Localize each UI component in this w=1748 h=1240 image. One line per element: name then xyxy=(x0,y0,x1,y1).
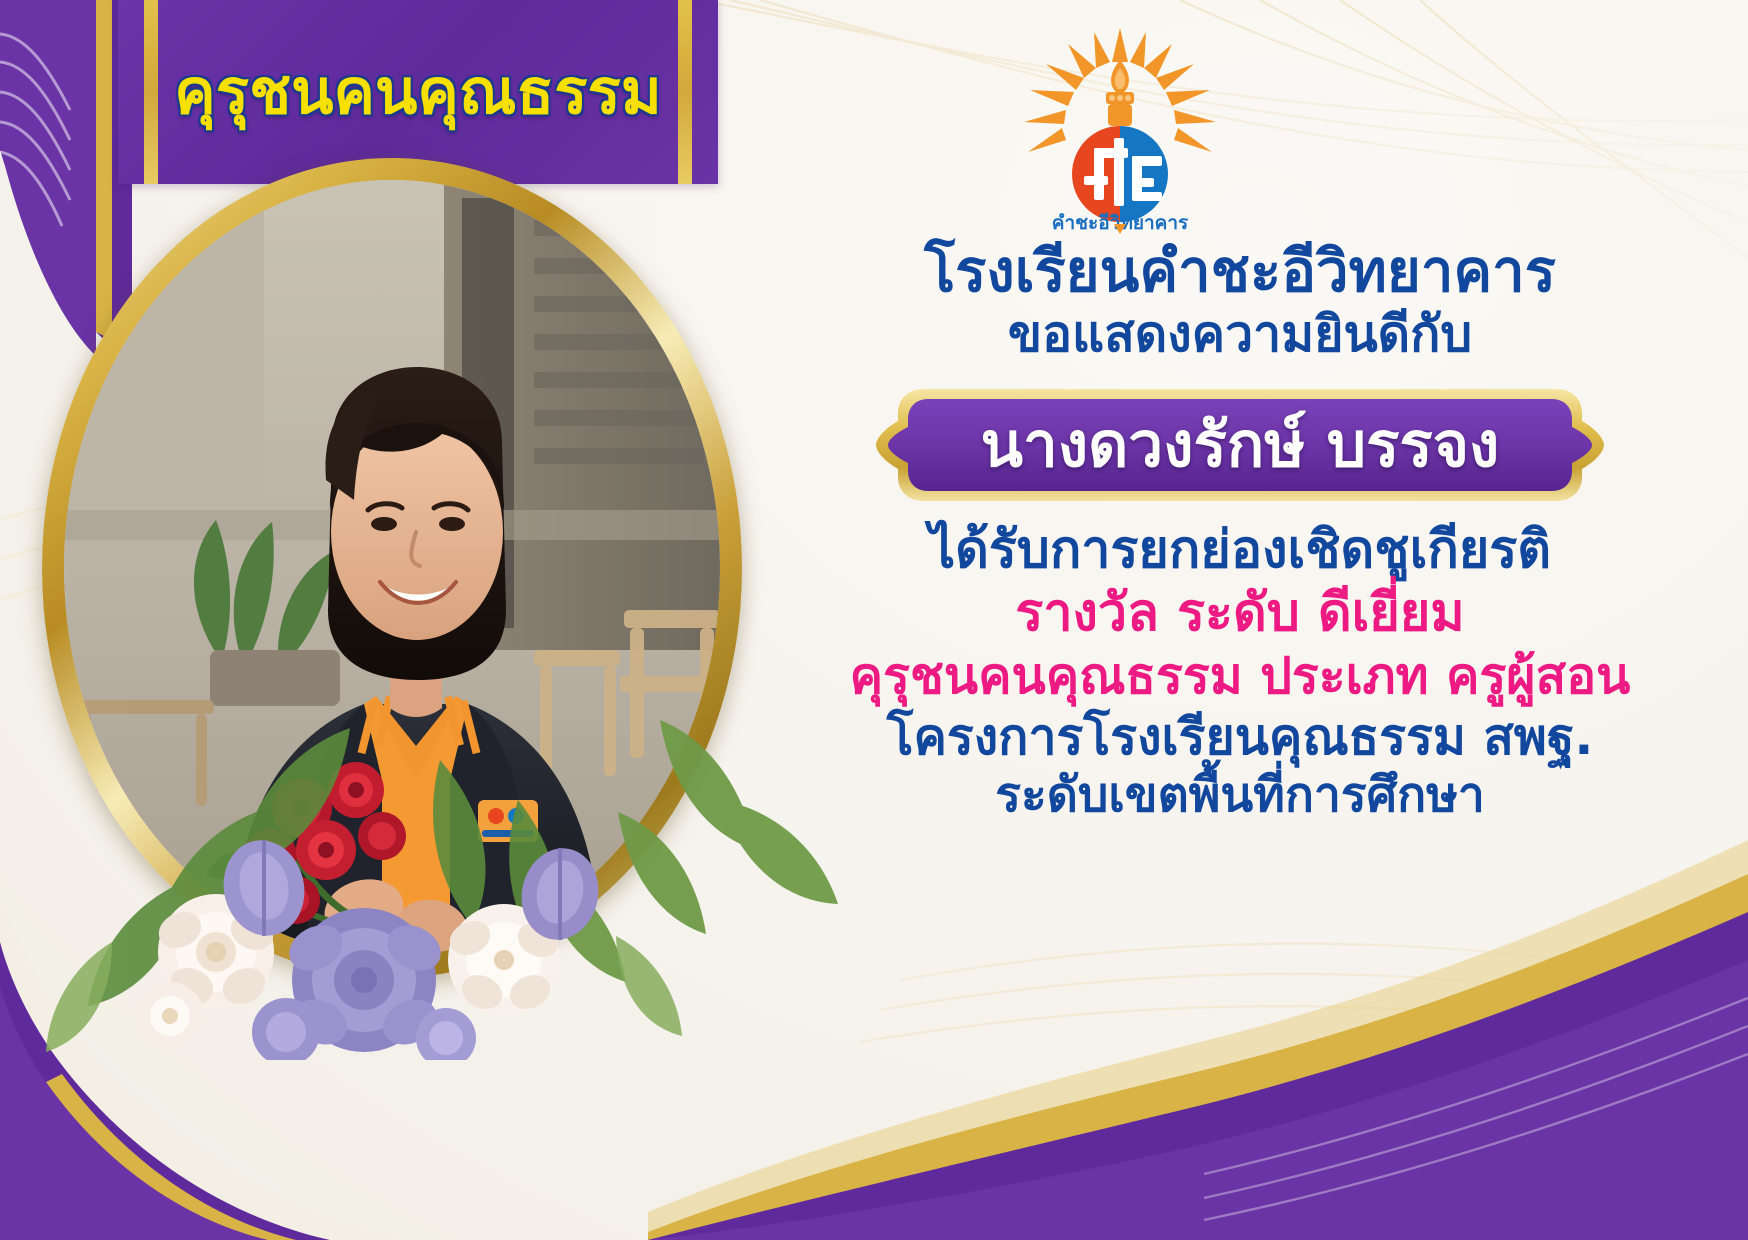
award-text-column: โรงเรียนคำชะอีวิทยาคาร ขอแสดงความยินดีกั… xyxy=(770,238,1710,822)
awardee-name: นางดวงรักษ์ บรรจง xyxy=(870,381,1610,509)
title-banner-label: คุรุชนคนคุณธรรม xyxy=(174,43,661,141)
school-emblem-logo: คำชะอีวิทยาคาร xyxy=(1022,26,1218,238)
portrait-illustration xyxy=(64,180,720,956)
school-name-heading: โรงเรียนคำชะอีวิทยาคาร xyxy=(770,238,1710,304)
award-level-line: รางวัล ระดับ ดีเยี่ยม xyxy=(770,584,1710,643)
awardee-name-plaque: นางดวงรักษ์ บรรจง xyxy=(870,381,1610,509)
title-banner: คุรุชนคนคุณธรรม xyxy=(118,0,718,184)
project-name-line: โครงการโรงเรียนคุณธรรม สพฐ. xyxy=(770,709,1710,766)
congratulation-line: ขอแสดงความยินดีกับ xyxy=(770,306,1710,363)
award-category-line: คุรุชนคนคุณธรรม ประเภท ครูผู้สอน xyxy=(770,648,1710,705)
award-scope-line: ระดับเขตพื้นที่การศึกษา xyxy=(770,768,1710,823)
honor-line: ได้รับการยกย่องเชิดชูเกียรติ xyxy=(770,521,1710,580)
title-banner-gold-stripe-right xyxy=(678,0,692,184)
corner-decoration-bottom-right xyxy=(648,820,1748,1240)
photo-inner-clip xyxy=(64,180,720,956)
award-poster: คุรุชนคนคุณธรรม xyxy=(0,0,1748,1240)
title-banner-gold-stripe-left xyxy=(144,0,158,184)
portrait-photo xyxy=(42,158,742,978)
